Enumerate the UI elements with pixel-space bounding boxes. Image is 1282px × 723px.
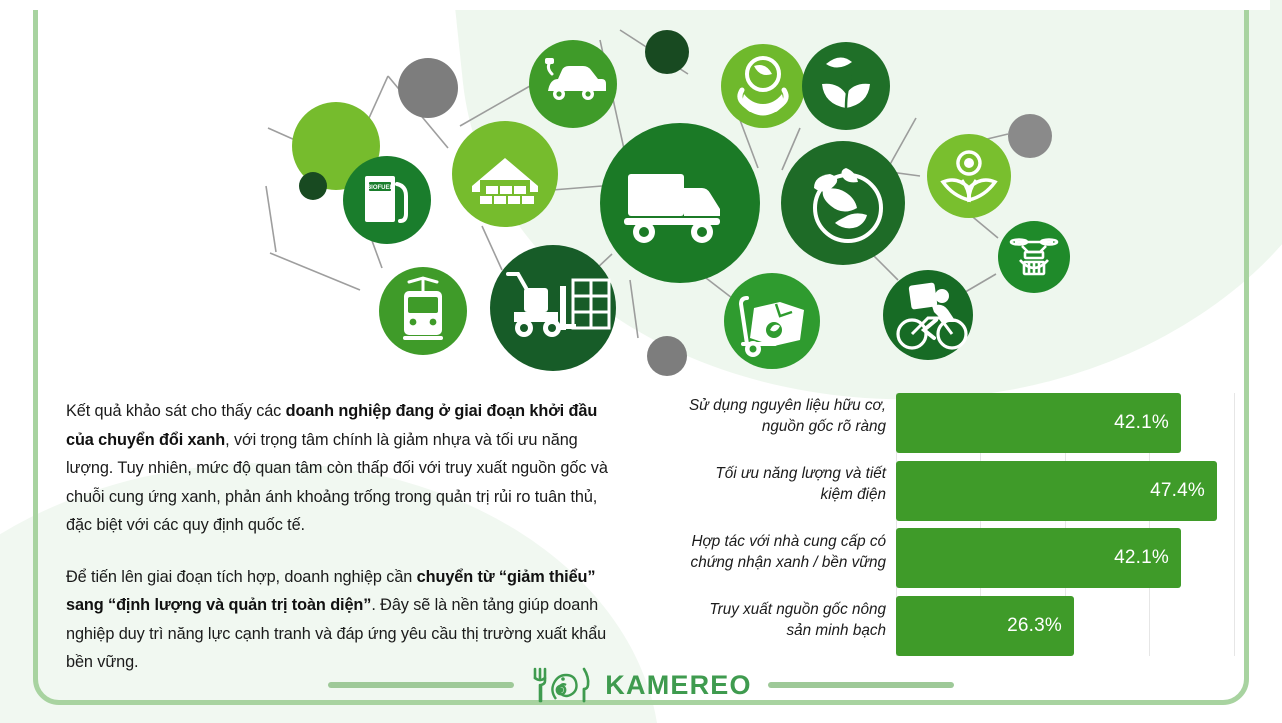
bar-row: 42.1% — [896, 393, 1235, 453]
green-globe-icon — [781, 141, 905, 265]
electric-car-icon — [529, 40, 617, 128]
category-label-0: Sử dụng nguyên liệu hữu cơ, nguồn gốc rõ… — [640, 395, 886, 437]
paragraph-2: Để tiến lên giai đoạn tích hợp, doanh ng… — [66, 563, 622, 677]
plain-dot-grey-bottom — [647, 336, 687, 376]
hero-illustration: BIOFUEL — [40, 8, 1242, 378]
bar-row: 42.1% — [896, 528, 1235, 588]
bar-row: 26.3% — [896, 596, 1235, 656]
paragraph-1: Kết quả khảo sát cho thấy các doanh nghi… — [66, 397, 622, 540]
chart-category-labels: Sử dụng nguyên liệu hữu cơ, nguồn gốc rõ… — [640, 393, 886, 656]
plain-dot-grey-large — [398, 58, 458, 118]
leaves-circle-icon — [802, 42, 890, 130]
forklift-pallet-icon — [490, 245, 616, 371]
divider-line-left — [328, 682, 514, 688]
green-delivery-truck-icon — [600, 123, 760, 283]
plain-dot-grey-right — [1008, 114, 1052, 158]
bar-1[interactable]: 47.4% — [896, 461, 1217, 521]
card-content: BIOFUEL — [40, 0, 1242, 700]
bar-row: 47.4% — [896, 461, 1235, 521]
bar-value-1: 47.4% — [1150, 480, 1205, 502]
divider-line-right — [768, 682, 954, 688]
footer: KAMEREO — [40, 662, 1242, 708]
chart-column: Sử dụng nguyên liệu hữu cơ, nguồn gốc rõ… — [640, 385, 1242, 660]
category-label-2: Hợp tác với nhà cung cấp có chứng nhận x… — [640, 531, 886, 573]
fork-leaf-knife-logo-icon — [530, 665, 592, 705]
hand-truck-parcel-icon — [724, 273, 820, 369]
tram-icon — [379, 267, 467, 355]
bar-3[interactable]: 26.3% — [896, 596, 1074, 656]
svg-text:BIOFUEL: BIOFUEL — [367, 185, 394, 191]
delivery-drone-icon — [998, 221, 1070, 293]
bar-value-0: 42.1% — [1114, 412, 1169, 434]
bar-2[interactable]: 42.1% — [896, 528, 1181, 588]
location-pin-leaf-icon — [927, 134, 1011, 218]
bar-0[interactable]: 42.1% — [896, 393, 1181, 453]
hands-holding-leaf-icon — [721, 44, 805, 128]
delivery-cyclist-icon — [883, 270, 973, 360]
plain-dot-dark-green-top — [645, 30, 689, 74]
content-area: Kết quả khảo sát cho thấy các doanh nghi… — [40, 385, 1242, 660]
paragraph-1-text-a: Kết quả khảo sát cho thấy các — [66, 402, 286, 420]
chart-bars: 42.1% 47.4% 42.1% — [896, 393, 1235, 656]
category-label-1: Tối ưu năng lượng và tiết kiệm điện — [640, 463, 886, 505]
paragraph-2-text-a: Để tiến lên giai đoạn tích hợp, doanh ng… — [66, 568, 417, 586]
chart-plot-area: 42.1% 47.4% 42.1% — [896, 393, 1235, 656]
bar-value-3: 26.3% — [1007, 615, 1062, 637]
brand-logo: KAMEREO — [530, 665, 751, 705]
biofuel-pump-icon: BIOFUEL — [343, 156, 431, 244]
page-root: BIOFUEL — [0, 0, 1282, 723]
bar-chart: Sử dụng nguyên liệu hữu cơ, nguồn gốc rõ… — [640, 393, 1235, 656]
bar-value-2: 42.1% — [1114, 547, 1169, 569]
brand-name: KAMEREO — [605, 670, 751, 701]
warehouse-icon — [452, 121, 558, 227]
category-label-3: Truy xuất nguồn gốc nông sản minh bạch — [640, 599, 886, 641]
article-text-column: Kết quả khảo sát cho thấy các doanh nghi… — [40, 385, 640, 660]
plain-dot-dark-green-small — [299, 172, 327, 200]
